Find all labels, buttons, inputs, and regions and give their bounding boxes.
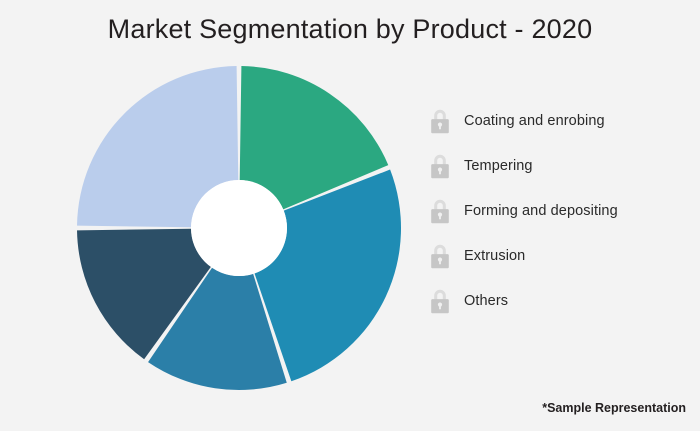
legend-label: Tempering (464, 158, 533, 174)
sample-representation-note: *Sample Representation (542, 401, 686, 415)
chart-title: Market Segmentation by Product - 2020 (0, 14, 700, 45)
legend-item-tempering[interactable]: Tempering (427, 143, 677, 188)
chart-container: Market Segmentation by Product - 2020 Co… (0, 0, 700, 431)
legend-item-extrusion[interactable]: Extrusion (427, 233, 677, 278)
lock-icon (427, 197, 453, 225)
lock-icon (427, 242, 453, 270)
lock-icon (427, 107, 453, 135)
legend-label: Others (464, 293, 508, 309)
donut-chart-svg (74, 63, 404, 393)
legend-item-forming-and-depositing[interactable]: Forming and depositing (427, 188, 677, 233)
chart-legend: Coating and enrobing Tempering (427, 98, 677, 323)
legend-item-others[interactable]: Others (427, 278, 677, 323)
lock-icon (427, 152, 453, 180)
legend-label: Extrusion (464, 248, 525, 264)
donut-chart (74, 63, 404, 393)
lock-icon (427, 287, 453, 315)
legend-item-coating-and-enrobing[interactable]: Coating and enrobing (427, 98, 677, 143)
legend-label: Forming and depositing (464, 203, 618, 219)
donut-hole (191, 180, 287, 276)
legend-label: Coating and enrobing (464, 113, 605, 129)
